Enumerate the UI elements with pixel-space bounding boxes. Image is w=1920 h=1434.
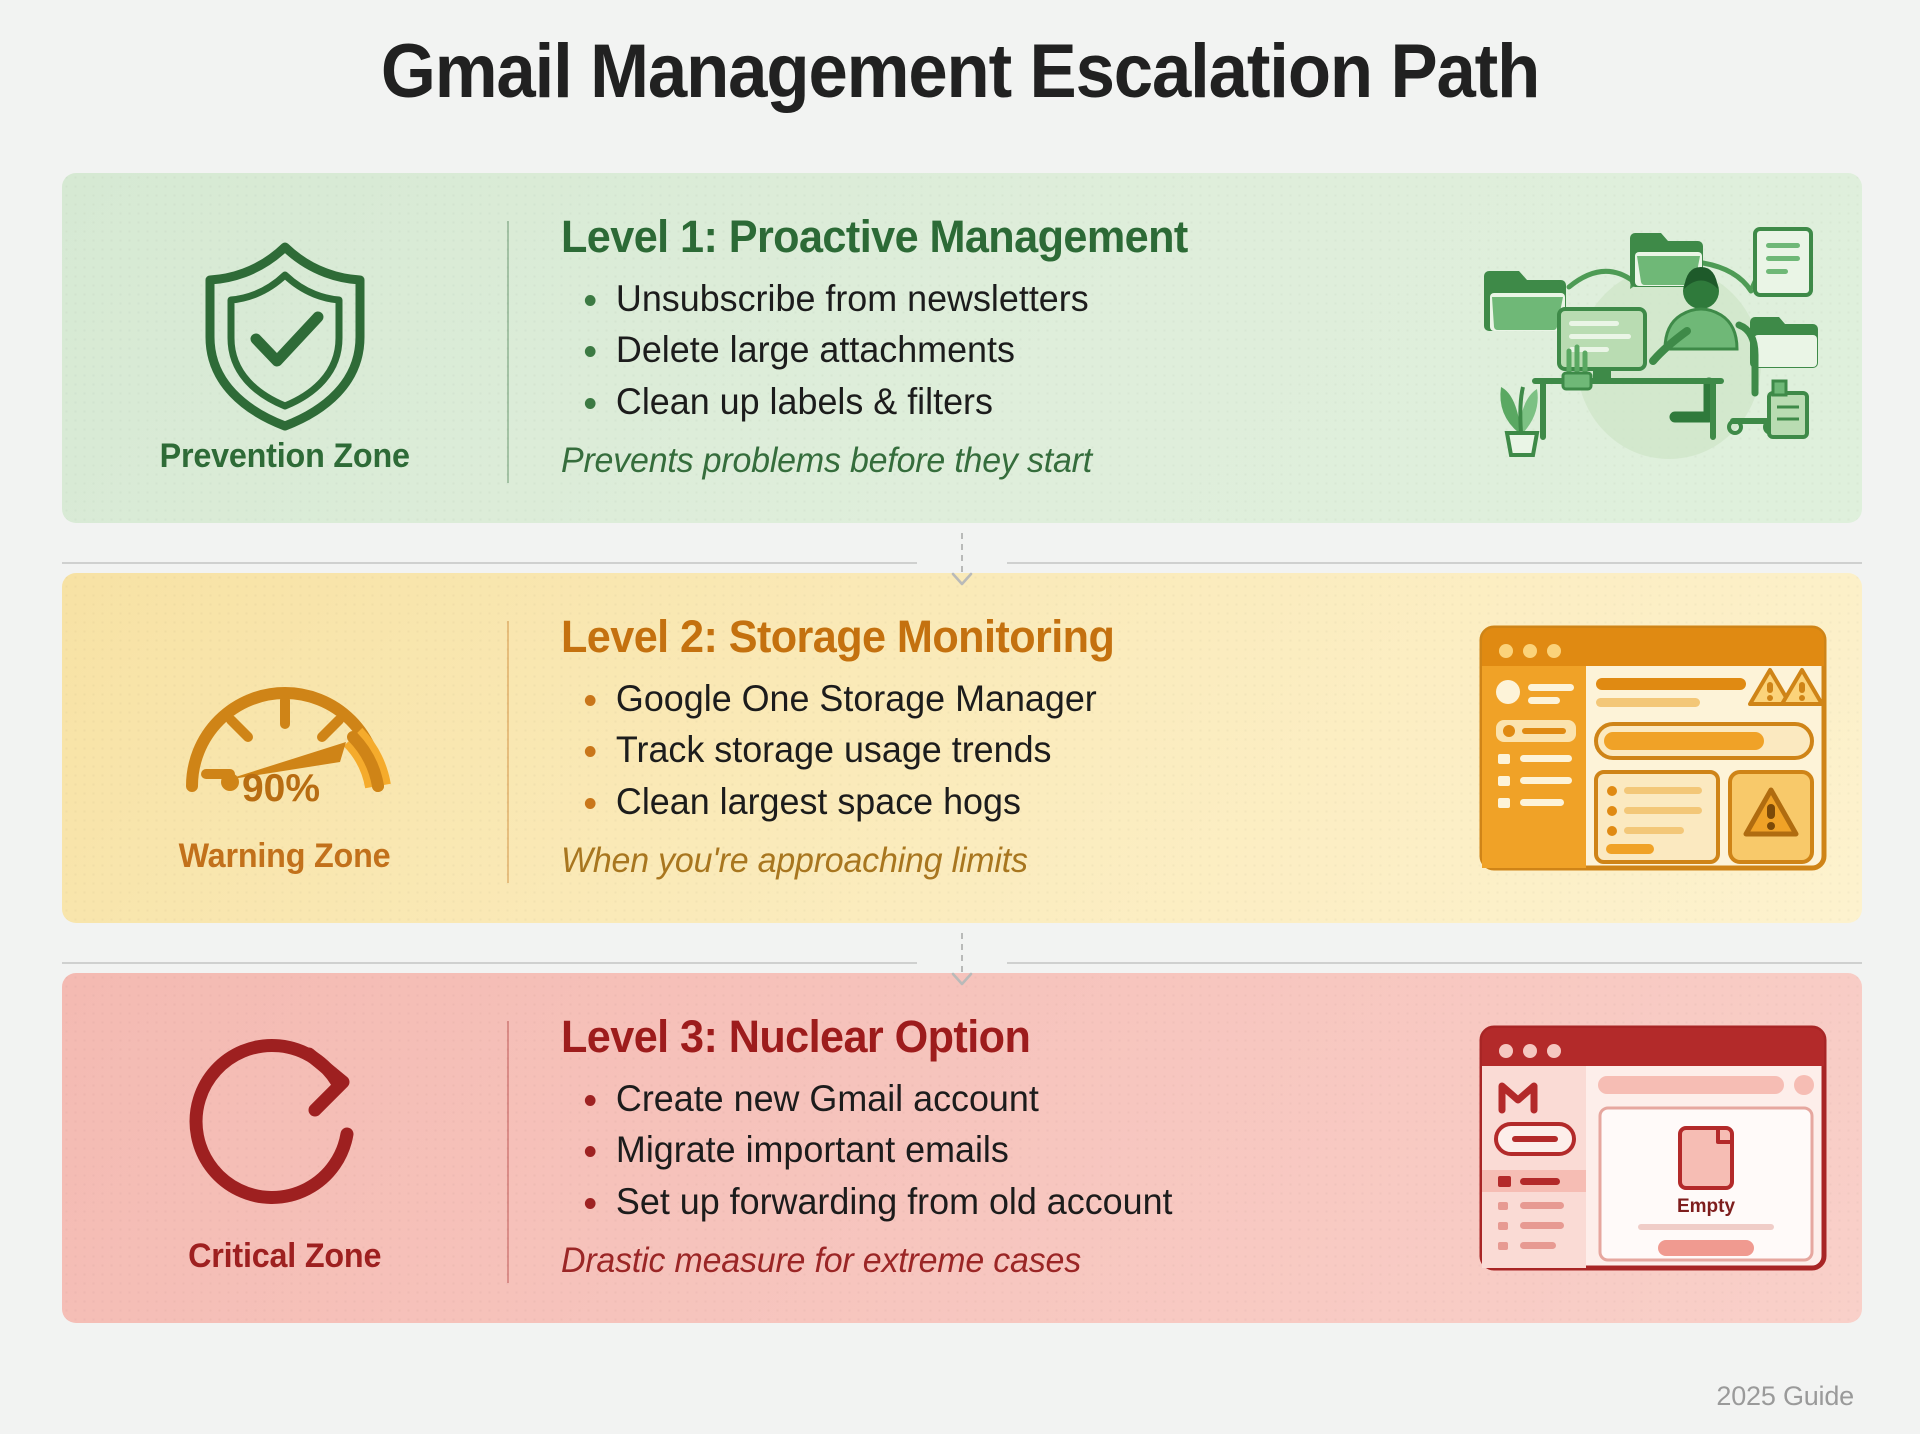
level-2-bullet-list: Google One Storage Manager Track storage…	[581, 677, 1462, 831]
level-1-bullet-list: Unsubscribe from newsletters Delete larg…	[581, 277, 1462, 431]
list-item: Migrate important emails	[581, 1128, 1436, 1172]
level-2-title: Level 2: Storage Monitoring	[561, 611, 1426, 663]
connector-line-left	[62, 962, 917, 964]
level-1-content: Level 1: Proactive Management Unsubscrib…	[509, 173, 1462, 523]
level-1-zone-label: Prevention Zone	[159, 437, 409, 476]
connector-line-right	[1007, 962, 1862, 964]
list-item: Google One Storage Manager	[581, 677, 1436, 721]
empty-gmail-inbox-window-illustration: Empty	[1462, 973, 1862, 1323]
level-3-zone-label: Critical Zone	[188, 1237, 381, 1276]
connector-line-left	[62, 562, 917, 564]
level-1-panel: Prevention Zone Level 1: Proactive Manag…	[62, 173, 1862, 523]
connector-line-right	[1007, 562, 1862, 564]
level-3-content: Level 3: Nuclear Option Create new Gmail…	[509, 973, 1462, 1323]
connector-level1-to-level2	[62, 533, 1862, 593]
list-item: Clean largest space hogs	[581, 780, 1436, 824]
shield-check-icon	[180, 230, 390, 435]
gauge-value-text: 90%	[241, 767, 319, 810]
level-2-caption: When you're approaching limits	[561, 841, 1435, 881]
list-item: Set up forwarding from old account	[581, 1180, 1436, 1224]
empty-state-label: Empty	[1677, 1196, 1736, 1217]
refresh-circular-arrow-icon	[185, 1030, 385, 1235]
page-title: Gmail Management Escalation Path	[67, 28, 1853, 115]
level-1-icon-column: Prevention Zone	[62, 173, 507, 523]
level-3-bullet-list: Create new Gmail account Migrate importa…	[581, 1077, 1462, 1231]
level-3-title: Level 3: Nuclear Option	[561, 1011, 1426, 1063]
gauge-icon: 90%	[170, 630, 400, 835]
infographic-canvas: Gmail Management Escalation Path Prevent…	[0, 0, 1920, 1434]
connector-level2-to-level3	[62, 933, 1862, 993]
level-3-icon-column: Critical Zone	[62, 973, 507, 1323]
chevron-down-icon	[950, 971, 974, 987]
person-at-desk-organizing-folders-illustration	[1462, 173, 1862, 523]
footer-credit: 2025 Guide	[1716, 1381, 1854, 1412]
level-1-title: Level 1: Proactive Management	[561, 211, 1426, 263]
level-2-panel: 90% Warning Zone Level 2: Storage Monito…	[62, 573, 1862, 923]
list-item: Create new Gmail account	[581, 1077, 1436, 1121]
connector-dashed-line	[961, 533, 963, 575]
list-item: Unsubscribe from newsletters	[581, 277, 1436, 321]
level-2-icon-column: 90% Warning Zone	[62, 573, 507, 923]
level-2-content: Level 2: Storage Monitoring Google One S…	[509, 573, 1462, 923]
storage-dashboard-window-illustration	[1462, 573, 1862, 923]
level-2-zone-label: Warning Zone	[179, 837, 391, 876]
level-3-caption: Drastic measure for extreme cases	[561, 1241, 1435, 1281]
list-item: Clean up labels & filters	[581, 380, 1436, 424]
list-item: Track storage usage trends	[581, 728, 1436, 772]
level-1-caption: Prevents problems before they start	[561, 441, 1435, 481]
list-item: Delete large attachments	[581, 328, 1436, 372]
connector-dashed-line	[961, 933, 963, 975]
chevron-down-icon	[950, 571, 974, 587]
level-3-panel: Critical Zone Level 3: Nuclear Option Cr…	[62, 973, 1862, 1323]
